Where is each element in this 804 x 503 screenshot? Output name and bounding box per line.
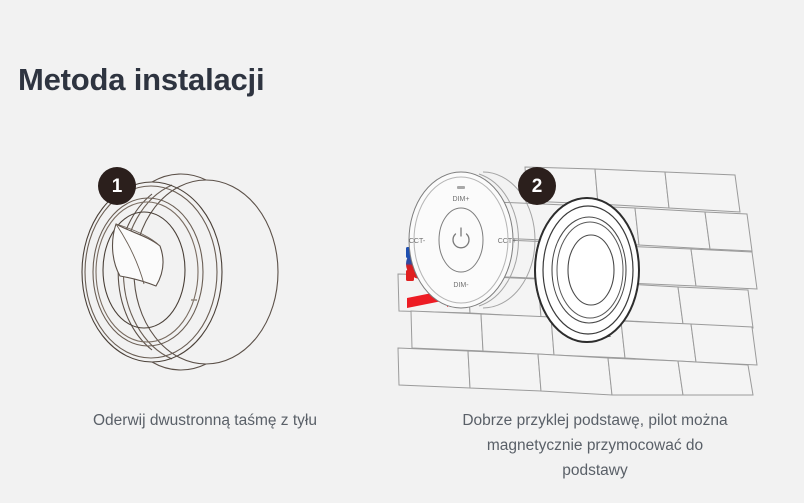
remote-label-dim-plus: DIM+: [453, 196, 470, 203]
step-2-caption: Dobrze przyklej podstawę, pilot można ma…: [395, 408, 795, 483]
base-center-dome: [568, 235, 614, 305]
adhesive-tape-peel: [113, 224, 163, 286]
installation-method-page: Metoda instalacji 1: [0, 0, 804, 503]
brightness-glyph: [457, 186, 465, 189]
remote-label-cct-minus: CCT-: [409, 238, 426, 245]
remote-label-cct-plus: CCT+: [498, 238, 516, 245]
step-2-illustration: DIM+ CCT- CCT+ DIM-: [395, 150, 795, 395]
step-2-caption-line-2: magnetycznie przymocować do: [395, 433, 795, 458]
step-2-badge: 2: [518, 167, 556, 205]
mounted-base: [535, 198, 639, 342]
step-1-caption-text: Oderwij dwustronną taśmę z tyłu: [93, 412, 317, 429]
step-2-caption-line-3: podstawy: [395, 458, 795, 483]
remote-label-dim-minus: DIM-: [453, 282, 469, 289]
puck-base-drawing: [20, 150, 390, 395]
wall-mount-drawing: DIM+ CCT- CCT+ DIM-: [395, 150, 795, 395]
step-1-illustration: [20, 150, 390, 395]
page-title: Metoda instalacji: [18, 62, 264, 98]
step-2-caption-line-1: Dobrze przyklej podstawę, pilot można: [395, 408, 795, 433]
step-1-caption: Oderwij dwustronną taśmę z tyłu: [20, 408, 390, 433]
step-1-badge: 1: [98, 167, 136, 205]
